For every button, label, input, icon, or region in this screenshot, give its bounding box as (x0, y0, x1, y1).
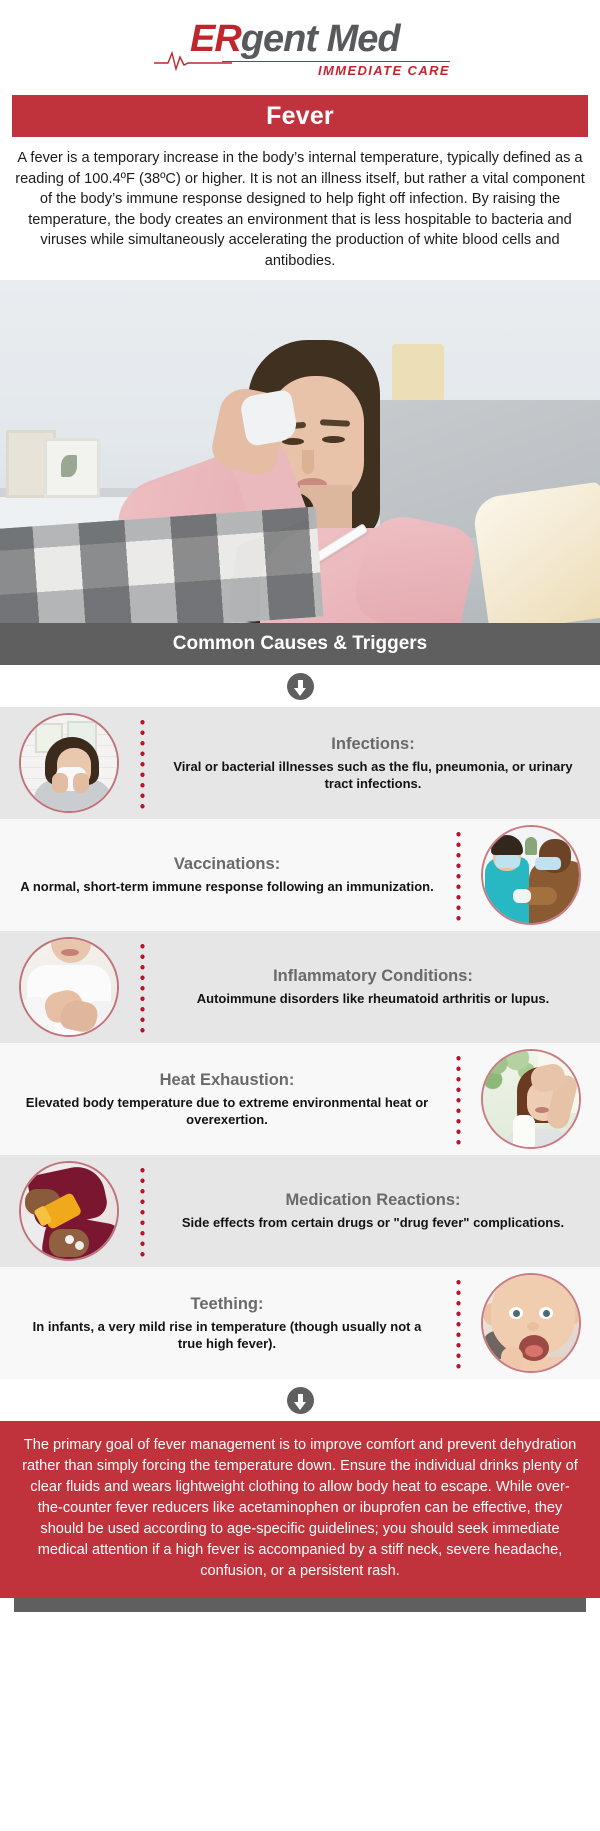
page-title: Fever (266, 102, 334, 131)
cause-media (14, 715, 124, 811)
cause-row-inflammatory-conditions: Inflammatory Conditions: Autoimmune diso… (0, 931, 600, 1043)
logo-tagline: IMMEDIATE CARE (150, 63, 450, 78)
cause-row-infections: Infections: Viral or bacterial illnesses… (0, 707, 600, 819)
cause-row-vaccinations: Vaccinations: A normal, short-term immun… (0, 819, 600, 931)
cause-title: Heat Exhaustion: (20, 1070, 434, 1090)
dotted-divider (440, 1043, 476, 1155)
cause-media (14, 1163, 124, 1259)
brand-header: ERgent Med IMMEDIATE CARE (0, 0, 600, 95)
hero-image (0, 280, 600, 623)
causes-section-banner: Common Causes & Triggers (0, 623, 600, 665)
causes-section-title: Common Causes & Triggers (173, 633, 427, 655)
inflammatory-conditions-thumbnail-image (21, 939, 117, 1035)
cause-title: Teething: (20, 1294, 434, 1314)
vaccinations-thumbnail-image (483, 827, 579, 923)
cause-description: A normal, short-term immune response fol… (20, 879, 434, 896)
cause-title: Infections: (166, 734, 580, 754)
logo: ERgent Med IMMEDIATE CARE (150, 17, 450, 79)
cause-text: Inflammatory Conditions: Autoimmune diso… (160, 966, 586, 1008)
cause-description: Side effects from certain drugs or "drug… (166, 1215, 580, 1232)
footer-bar (14, 1598, 586, 1612)
intro-paragraph: A fever is a temporary increase in the b… (0, 137, 600, 280)
cause-row-heat-exhaustion: Heat Exhaustion: Elevated body temperatu… (0, 1043, 600, 1155)
logo-gentmed-text: gent Med (241, 18, 400, 60)
cause-media (476, 1275, 586, 1371)
footer-spacer (0, 1612, 600, 1616)
cause-description: Viral or bacterial illnesses such as the… (166, 759, 580, 792)
cause-title: Medication Reactions: (166, 1190, 580, 1210)
teething-thumbnail-image (483, 1275, 579, 1371)
cause-text: Medication Reactions: Side effects from … (160, 1190, 586, 1232)
cause-text: Teething: In infants, a very mild rise i… (14, 1294, 440, 1352)
cause-text: Heat Exhaustion: Elevated body temperatu… (14, 1070, 440, 1128)
cause-text: Infections: Viral or bacterial illnesses… (160, 734, 586, 792)
dotted-divider (440, 1267, 476, 1379)
arrow-strip-top (0, 665, 600, 707)
dotted-divider (124, 1155, 160, 1267)
hero-photo-illustration (0, 280, 600, 623)
cause-text: Vaccinations: A normal, short-term immun… (14, 854, 440, 896)
cause-media (14, 939, 124, 1035)
infections-thumbnail-image (21, 715, 117, 811)
dotted-divider (440, 819, 476, 931)
cause-description: Elevated body temperature due to extreme… (20, 1095, 434, 1128)
logo-er-text: ER (190, 18, 241, 60)
heat-exhaustion-thumbnail-image (483, 1051, 579, 1147)
arrow-strip-bottom (0, 1379, 600, 1421)
medication-reactions-thumbnail-image (21, 1163, 117, 1259)
cause-media (476, 1051, 586, 1147)
cause-title: Inflammatory Conditions: (166, 966, 580, 986)
cause-description: In infants, a very mild rise in temperat… (20, 1319, 434, 1352)
logo-wordmark: ERgent Med (190, 17, 400, 61)
cause-title: Vaccinations: (20, 854, 434, 874)
cause-row-medication-reactions: Medication Reactions: Side effects from … (0, 1155, 600, 1267)
logo-underline (222, 61, 450, 62)
down-arrow-icon (287, 1387, 314, 1414)
infographic-page: ERgent Med IMMEDIATE CARE Fever A fever … (0, 0, 600, 1831)
cause-description: Autoimmune disorders like rheumatoid art… (166, 991, 580, 1008)
down-arrow-icon (287, 673, 314, 700)
conclusion-block: The primary goal of fever management is … (0, 1421, 600, 1598)
dotted-divider (124, 707, 160, 819)
page-title-banner: Fever (12, 95, 588, 137)
cause-media (476, 827, 586, 923)
cause-row-teething: Teething: In infants, a very mild rise i… (0, 1267, 600, 1379)
dotted-divider (124, 931, 160, 1043)
